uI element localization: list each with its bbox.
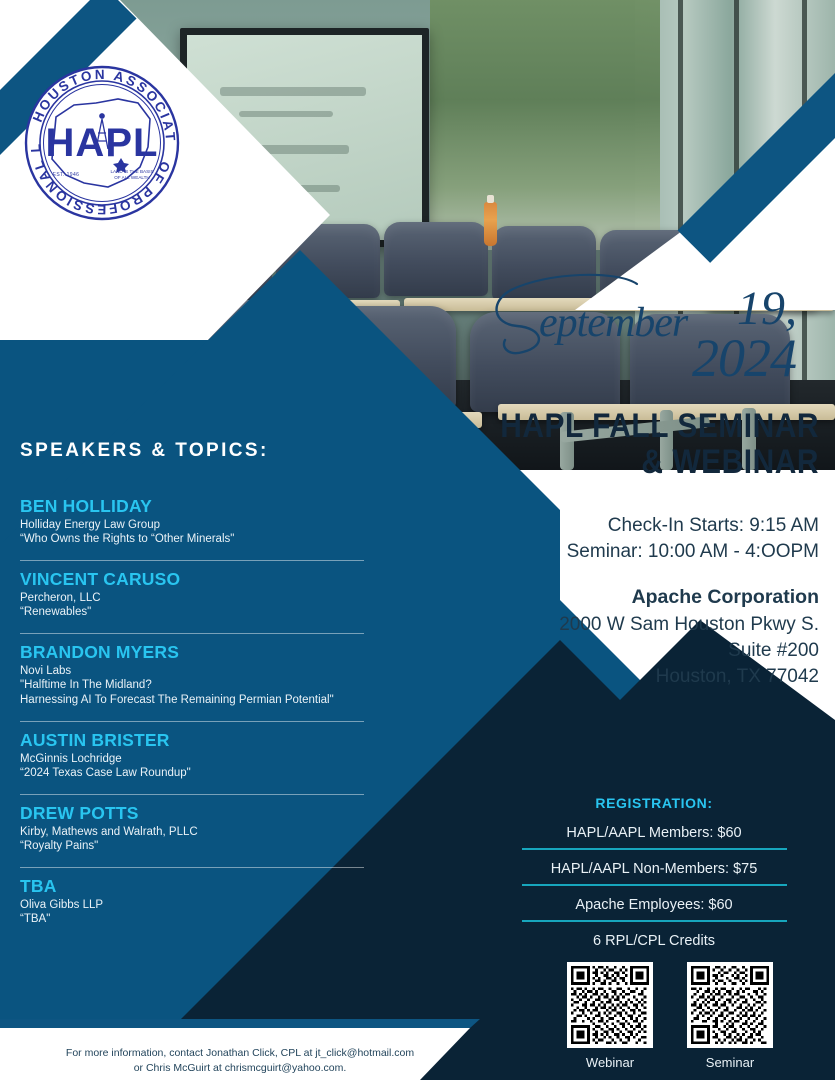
speaker-item: DREW POTTS Kirby, Mathews and Walrath, P… bbox=[16, 803, 376, 860]
outdoor-greenery bbox=[430, 0, 660, 250]
speaker-topic: "Halftime In The Midland? bbox=[20, 678, 376, 693]
speaker-name: DREW POTTS bbox=[20, 803, 376, 824]
speaker-name: TBA bbox=[20, 876, 376, 897]
qr-webinar[interactable]: Webinar bbox=[567, 962, 653, 1070]
seminar-time: Seminar: 10:00 AM - 4:OOPM bbox=[419, 539, 819, 565]
svg-text:LAND IS THE BASIS: LAND IS THE BASIS bbox=[110, 169, 153, 174]
speaker-name: VINCENT CARUSO bbox=[20, 569, 376, 590]
address-line-2: Suite #200 bbox=[419, 638, 819, 664]
qr-code-image-webinar[interactable] bbox=[567, 962, 653, 1048]
speaker-org: Kirby, Mathews and Walrath, PLLC bbox=[20, 826, 376, 838]
speaker-item: BRANDON MYERS Novi Labs "Halftime In The… bbox=[16, 642, 376, 714]
svg-text:HAPL: HAPL bbox=[46, 121, 159, 165]
speaker-item: TBA Oliva Gibbs LLP “TBA" bbox=[16, 876, 376, 933]
speaker-topic: “Royalty Pains" bbox=[20, 839, 376, 854]
divider bbox=[522, 920, 787, 922]
speakers-section: SPEAKERS & TOPICS: BEN HOLLIDAY Holliday… bbox=[16, 440, 376, 933]
speaker-item: VINCENT CARUSO Percheron, LLC “Renewable… bbox=[16, 569, 376, 626]
credits-text: 6 RPL/CPL Credits bbox=[489, 933, 819, 949]
address-line-1: 2000 W Sam Houston Pkwy S. bbox=[419, 612, 819, 638]
qr-label-webinar: Webinar bbox=[567, 1055, 653, 1070]
footer-contact: For more information, contact Jonathan C… bbox=[0, 1046, 480, 1076]
event-date-script: eptember 19, 2024 bbox=[487, 268, 827, 386]
svg-text:OF ALL WEALTH: OF ALL WEALTH bbox=[114, 175, 149, 180]
speaker-item: AUSTIN BRISTER McGinnis Lochridge “2024 … bbox=[16, 730, 376, 787]
speaker-name: AUSTIN BRISTER bbox=[20, 730, 376, 751]
event-title-line2: & WEBINAR bbox=[467, 444, 819, 480]
speaker-org: McGinnis Lochridge bbox=[20, 753, 376, 765]
speaker-topic: “TBA" bbox=[20, 912, 376, 927]
divider bbox=[20, 560, 364, 561]
footer-contact-line2: or Chris McGuirt at chrismcguirt@yahoo.c… bbox=[0, 1061, 480, 1076]
speaker-org: Oliva Gibbs LLP bbox=[20, 899, 376, 911]
speaker-topic-cont: Harnessing AI To Forecast The Remaining … bbox=[20, 693, 376, 708]
divider bbox=[20, 633, 364, 634]
qr-seminar[interactable]: Seminar bbox=[687, 962, 773, 1070]
speakers-heading: SPEAKERS & TOPICS: bbox=[20, 440, 376, 462]
divider bbox=[20, 794, 364, 795]
registration-row: HAPL/AAPL Non-Members: $75 bbox=[489, 861, 819, 884]
qr-code-image-seminar[interactable] bbox=[687, 962, 773, 1048]
event-title-line1: HAPL FALL SEMINAR bbox=[467, 408, 819, 444]
svg-text:EST. 1946: EST. 1946 bbox=[53, 172, 80, 178]
registration-row: HAPL/AAPL Members: $60 bbox=[489, 825, 819, 848]
speaker-item: BEN HOLLIDAY Holliday Energy Law Group “… bbox=[16, 496, 376, 553]
registration-heading: REGISTRATION: bbox=[489, 795, 819, 811]
event-title: HAPL FALL SEMINAR & WEBINAR bbox=[467, 408, 819, 480]
hapl-logo: HOUSTON ASSOCIATION OF PROFESSIONAL LAND… bbox=[22, 63, 182, 223]
divider bbox=[522, 884, 787, 886]
divider bbox=[522, 848, 787, 850]
qr-code-group: Webinar bbox=[525, 962, 815, 1070]
speaker-org: Percheron, LLC bbox=[20, 592, 376, 604]
svg-text:eptember: eptember bbox=[539, 300, 689, 346]
divider bbox=[20, 721, 364, 722]
registration-row: Apache Employees: $60 bbox=[489, 897, 819, 920]
speaker-topic: “2024 Texas Case Law Roundup" bbox=[20, 766, 376, 781]
check-in-time: Check-In Starts: 9:15 AM bbox=[419, 513, 819, 539]
speaker-name: BEN HOLLIDAY bbox=[20, 496, 376, 517]
qr-label-seminar: Seminar bbox=[687, 1055, 773, 1070]
venue-name: Apache Corporation bbox=[419, 583, 819, 612]
flyer-root: HOUSTON ASSOCIATION OF PROFESSIONAL LAND… bbox=[0, 0, 835, 1080]
footer-accent-strip bbox=[0, 1019, 500, 1028]
speaker-org: Holliday Energy Law Group bbox=[20, 519, 376, 531]
event-details: Check-In Starts: 9:15 AM Seminar: 10:00 … bbox=[419, 513, 819, 690]
speaker-topic: “Who Owns the Rights to “Other Minerals" bbox=[20, 532, 376, 547]
speaker-org: Novi Labs bbox=[20, 665, 376, 677]
footer-contact-line1: For more information, contact Jonathan C… bbox=[0, 1046, 480, 1061]
svg-text:2024: 2024 bbox=[692, 328, 796, 386]
registration-section: REGISTRATION: HAPL/AAPL Members: $60 HAP… bbox=[489, 795, 819, 949]
speaker-topic: “Renewables" bbox=[20, 605, 376, 620]
divider bbox=[20, 867, 364, 868]
speaker-name: BRANDON MYERS bbox=[20, 642, 376, 663]
address-line-3: Houston, TX 77042 bbox=[419, 664, 819, 690]
